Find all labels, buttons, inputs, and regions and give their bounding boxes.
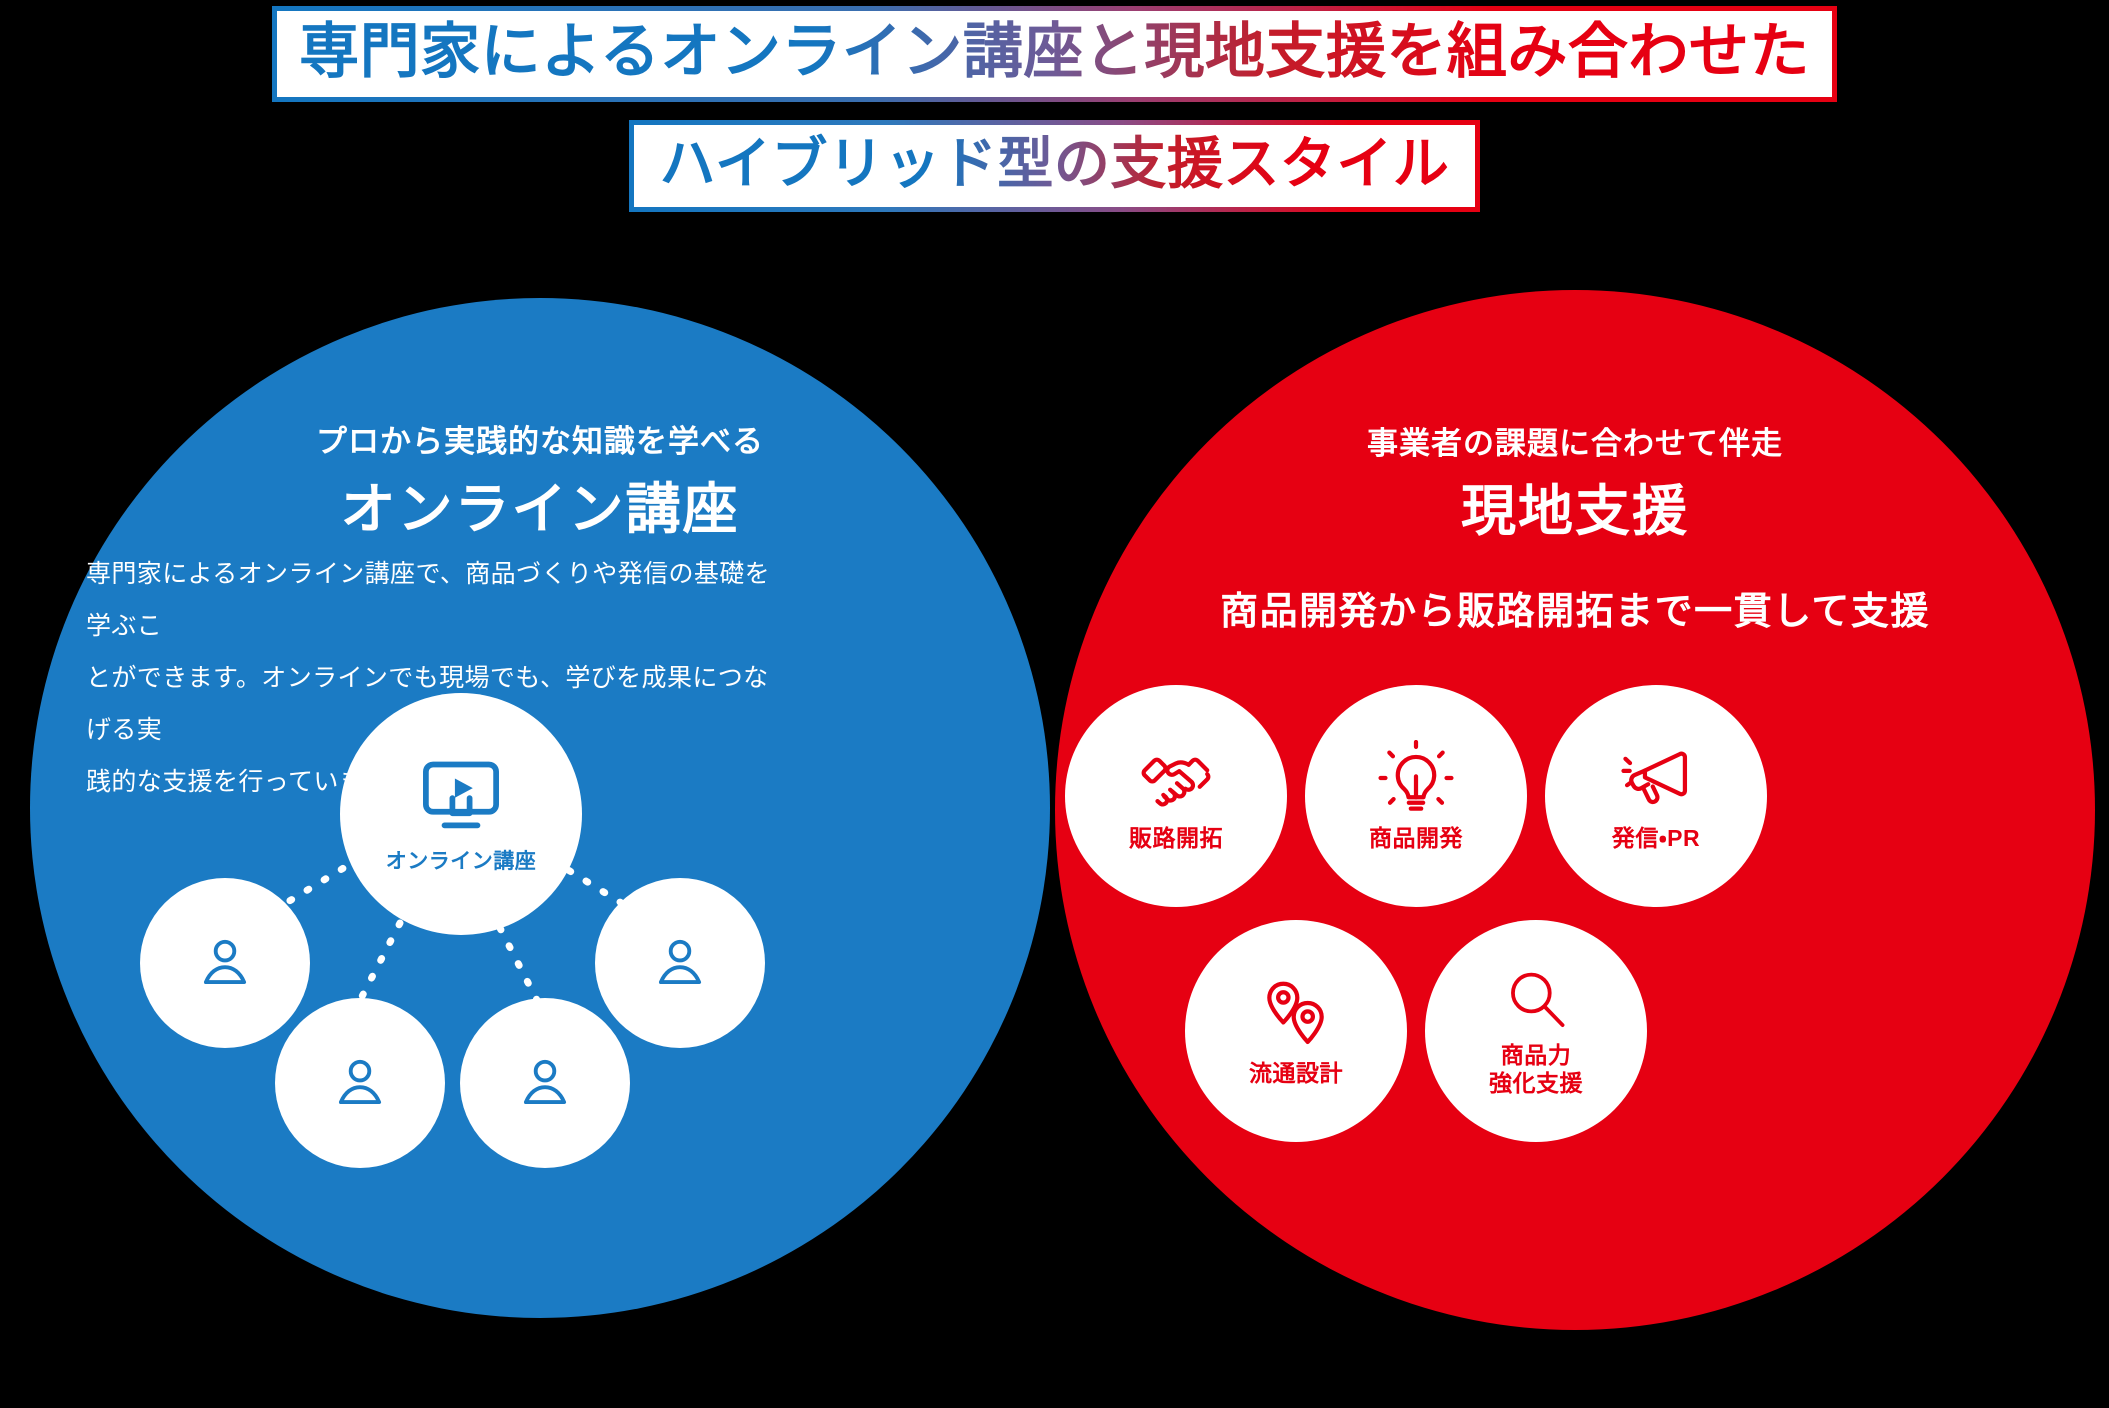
handshake-icon	[1137, 740, 1215, 818]
title-line-1: 専門家によるオンライン講座と現地支援を組み合わせた	[272, 6, 1837, 102]
lightbulb-icon	[1377, 740, 1455, 818]
person-icon	[514, 1052, 576, 1114]
node-online-course-label: オンライン講座	[386, 845, 537, 875]
title-line-1-text: 専門家によるオンライン講座と現地支援を組み合わせた	[299, 17, 1810, 87]
badge-sales-channel[interactable]: 販路開拓	[1065, 685, 1287, 907]
node-online-course[interactable]: オンライン講座	[340, 693, 582, 935]
badge-product-strength-label-line-2: 強化支援	[1489, 1069, 1583, 1097]
badge-product-strength-label: 商品力 強化支援	[1489, 1041, 1583, 1097]
badge-distribution-design-label: 流通設計	[1249, 1059, 1343, 1087]
node-cluster: オンライン講座	[30, 298, 1050, 1318]
node-participant-2[interactable]	[275, 998, 445, 1168]
badge-pr[interactable]: 発信・PR	[1545, 685, 1767, 907]
title-block: 専門家によるオンライン講座と現地支援を組み合わせた ハイブリッド型の支援スタイル	[0, 0, 2109, 200]
venn-diagram: プロから実践的な知識を学べる オンライン講座 専門家によるオンライン講座で、商品…	[0, 198, 2109, 1408]
person-icon	[649, 932, 711, 994]
map-pin-icon	[1257, 975, 1335, 1053]
online-course-content: プロから実践的な知識を学べる オンライン講座 専門家によるオンライン講座で、商品…	[30, 298, 1050, 1318]
magnifier-icon	[1501, 965, 1571, 1035]
monitor-play-icon	[418, 753, 504, 839]
onsite-support-content: 事業者の課題に合わせて伴走 現地支援 商品開発から販路開拓まで一貫して支援	[1055, 290, 2095, 1330]
badge-sales-channel-label: 販路開拓	[1129, 824, 1223, 852]
online-course-circle: プロから実践的な知識を学べる オンライン講座 専門家によるオンライン講座で、商品…	[30, 298, 1050, 1318]
badge-distribution-design[interactable]: 流通設計	[1185, 920, 1407, 1142]
badge-product-strength-label-line-1: 商品力	[1489, 1041, 1583, 1069]
node-participant-1[interactable]	[140, 878, 310, 1048]
badge-pr-label: 発信・PR	[1612, 824, 1700, 852]
support-badge-group: 販路開拓 商品開発	[1055, 290, 2095, 1330]
badge-product-strength[interactable]: 商品力 強化支援	[1425, 920, 1647, 1142]
node-participant-3[interactable]	[460, 998, 630, 1168]
person-icon	[329, 1052, 391, 1114]
node-participant-4[interactable]	[595, 878, 765, 1048]
megaphone-icon	[1617, 740, 1695, 818]
badge-product-development[interactable]: 商品開発	[1305, 685, 1527, 907]
badge-product-development-label: 商品開発	[1369, 824, 1463, 852]
title-line-2-text: ハイブリッド型の支援スタイル	[660, 131, 1450, 197]
person-icon	[194, 932, 256, 994]
onsite-support-circle: 事業者の課題に合わせて伴走 現地支援 商品開発から販路開拓まで一貫して支援	[1055, 290, 2095, 1330]
